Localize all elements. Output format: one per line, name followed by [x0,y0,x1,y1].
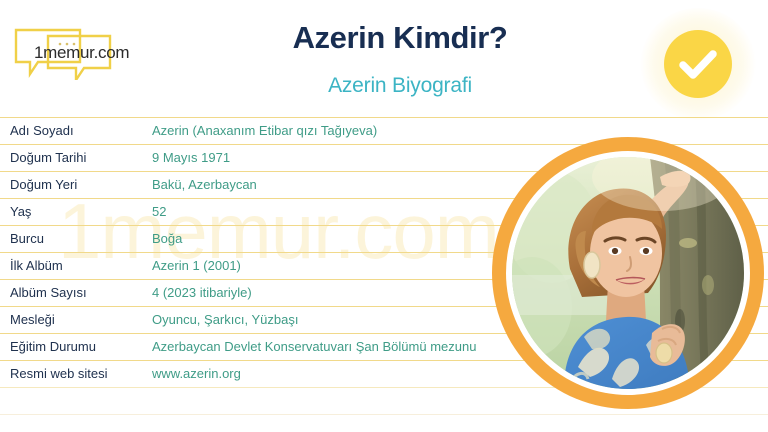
row-label: İlk Albüm [10,258,63,273]
row-value: www.azerin.org [152,366,241,381]
site-logo[interactable]: 1memur.com [12,22,130,80]
check-icon [664,30,732,98]
logo-text: 1memur.com [34,43,129,63]
row-value: Azerin 1 (2001) [152,258,241,273]
portrait-ring [492,137,764,409]
infographic-canvas: 1memur.com 1memur.com Azerin Kimdir? Aze… [0,0,768,432]
portrait-photo [512,157,744,389]
row-label: Adı Soyadı [10,123,74,138]
row-label: Mesleği [10,312,55,327]
row-value: 9 Mayıs 1971 [152,150,230,165]
portrait-image [512,157,744,389]
row-value: Azerin (Anaxanım Etibar qızı Tağıyeva) [152,123,377,138]
row-value: Bakü, Azerbaycan [152,177,257,192]
row-value: Boğa [152,231,182,246]
row-value: 4 (2023 itibariyle) [152,285,252,300]
verified-check-badge [664,30,732,98]
row-value: Azerbaycan Devlet Konservatuvarı Şan Böl… [152,339,476,354]
row-label: Albüm Sayısı [10,285,87,300]
row-value: Oyuncu, Şarkıcı, Yüzbaşı [152,312,298,327]
row-value: 52 [152,204,166,219]
row-label: Resmi web sitesi [10,366,108,381]
page-subtitle: Azerin Biyografi [180,74,620,98]
row-label: Yaş [10,204,31,219]
row-label: Burcu [10,231,44,246]
row-label: Doğum Tarihi [10,150,86,165]
row-label: Eğitim Durumu [10,339,96,354]
table-divider [0,414,768,432]
row-label: Doğum Yeri [10,177,77,192]
page-title: Azerin Kimdir? [180,20,620,56]
